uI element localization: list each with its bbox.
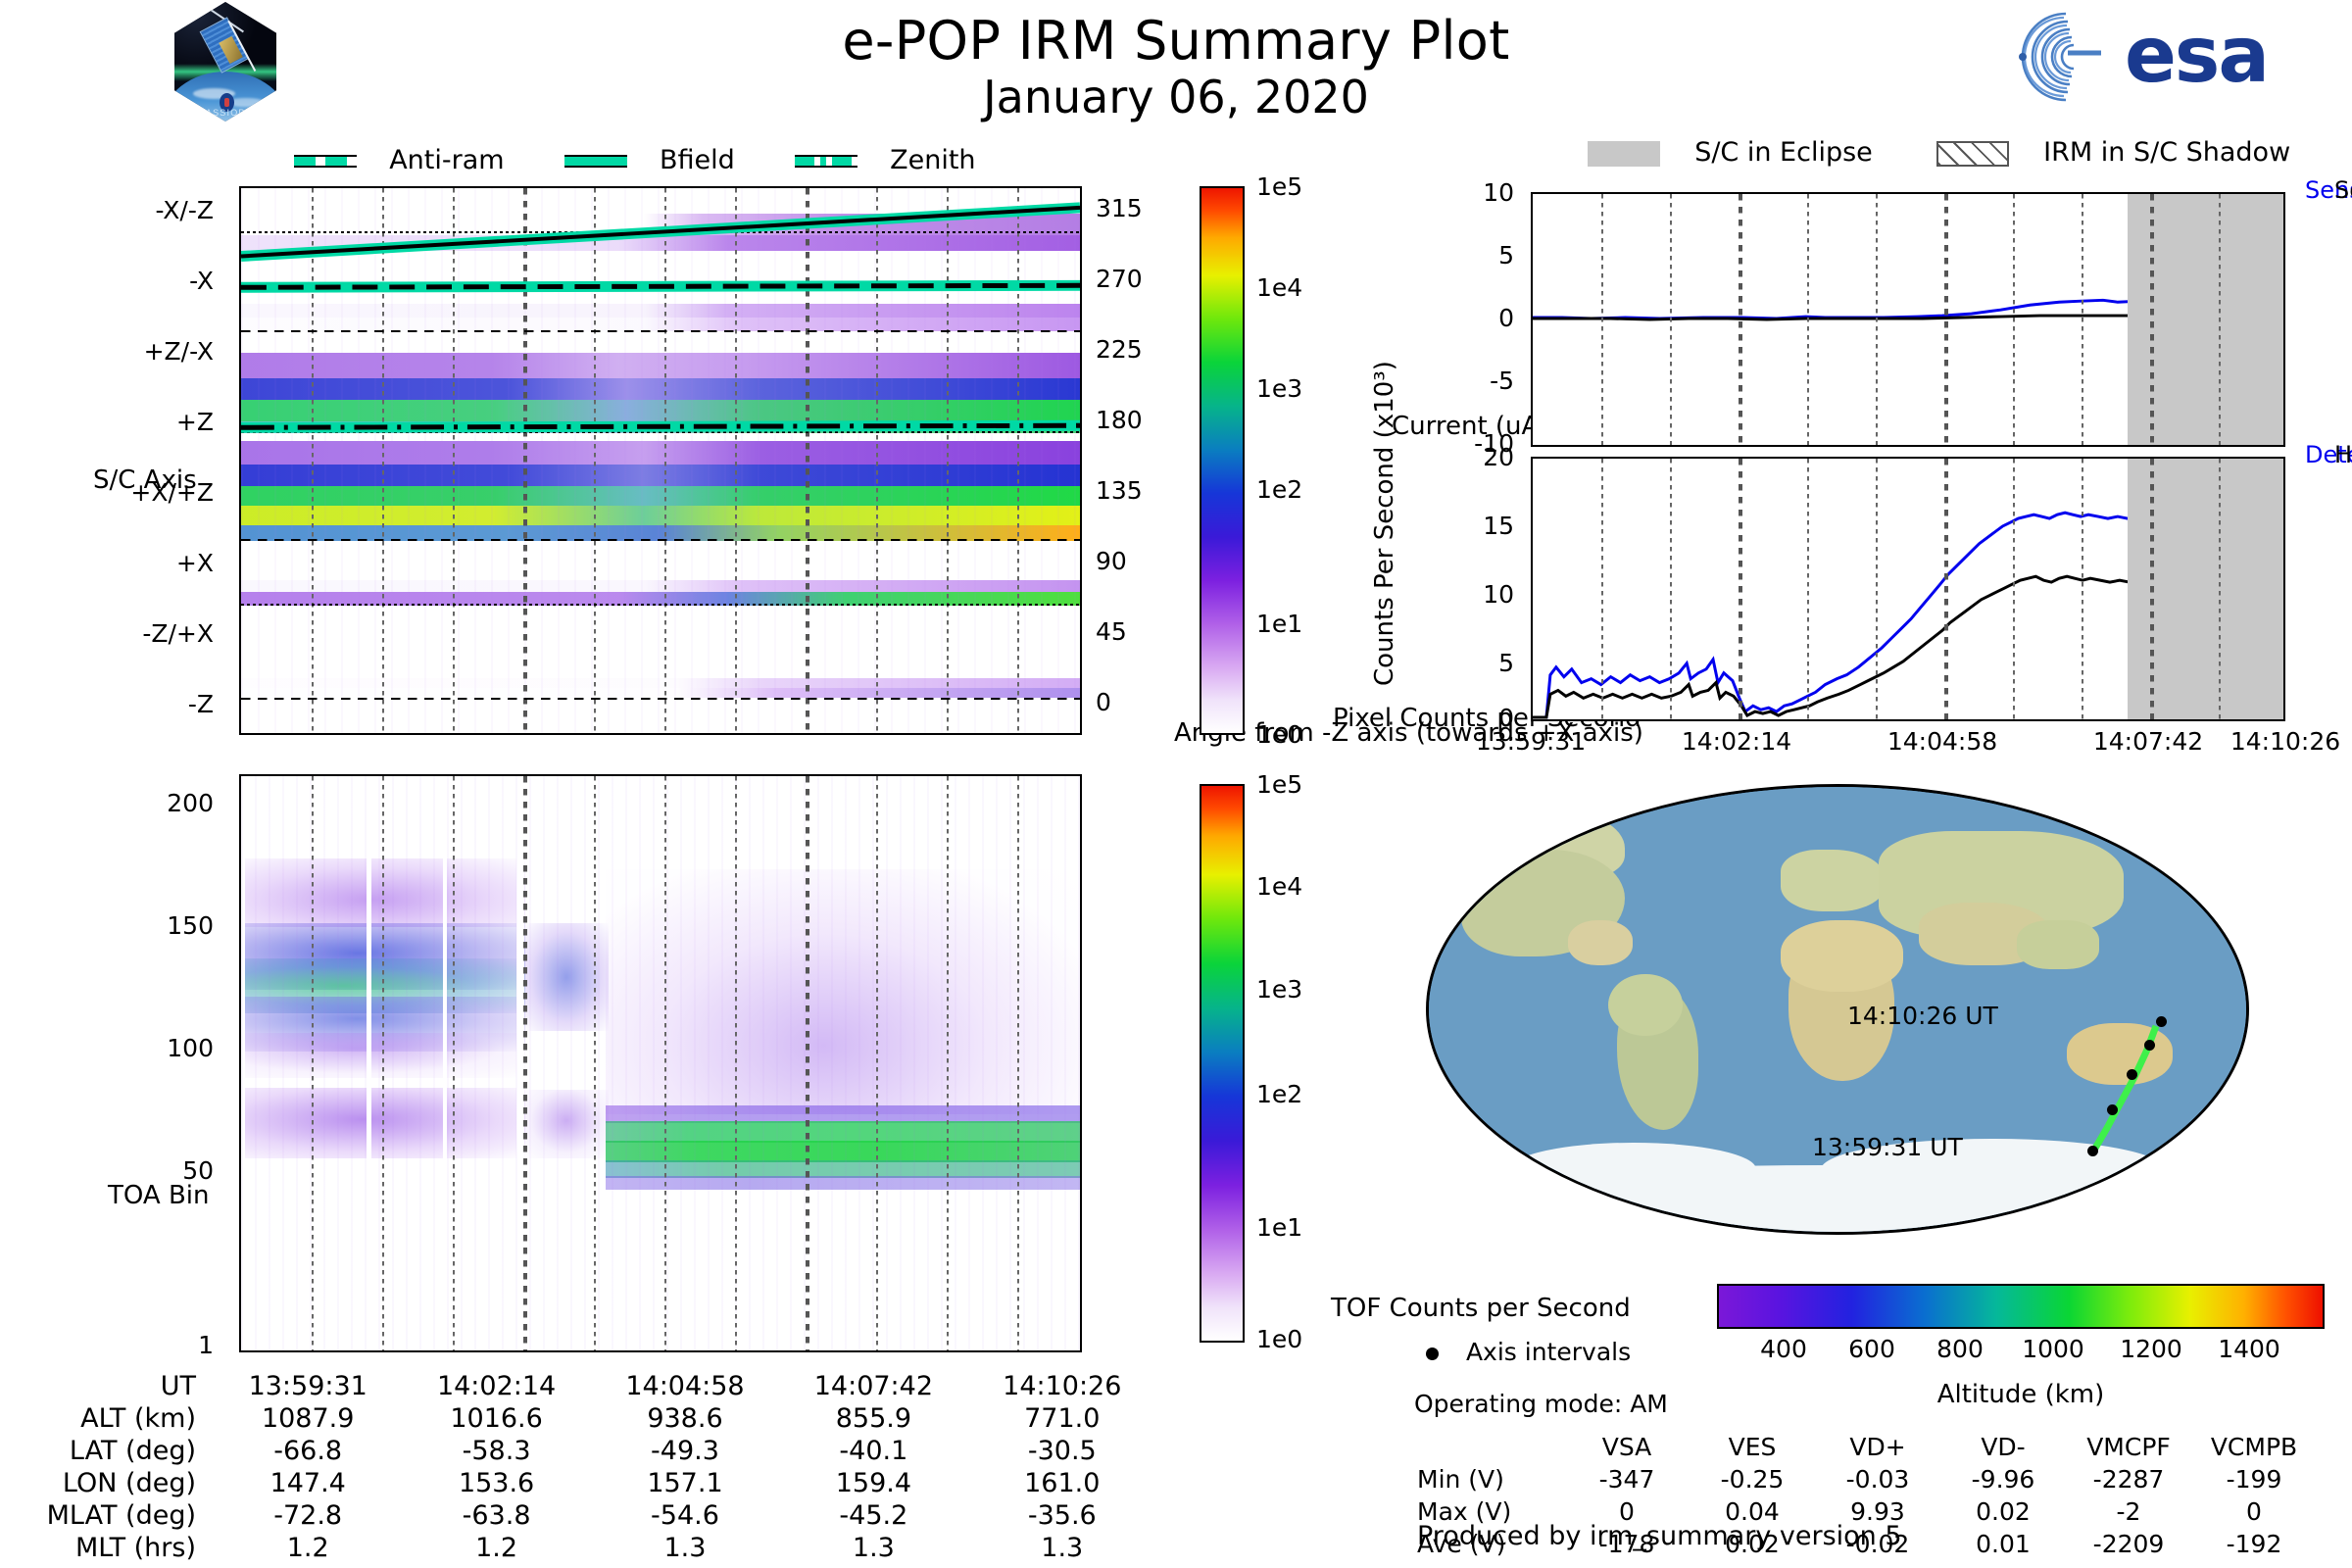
zenith-overlay-line (241, 188, 1080, 733)
table-row: LAT (deg) -66.8 -58.3 -49.3 -40.1 -30.5 (0, 1435, 1156, 1467)
eclipse-swatch (1588, 141, 1660, 167)
table-row: Min (V) -347 -0.25 -0.03 -9.96 -2287 -19… (1417, 1463, 2317, 1495)
counts-right-label-black: Hit Counter (2334, 441, 2352, 468)
cell: 147.4 (214, 1467, 402, 1499)
cell: -66.8 (214, 1435, 402, 1467)
track-point (2156, 1016, 2167, 1027)
row-label: LAT (deg) (0, 1435, 214, 1467)
cell: -347 (1564, 1463, 1690, 1495)
sc-axis-rtick-225: 225 (1096, 335, 1143, 364)
legend-label-shadow: IRM in S/C Shadow (2043, 137, 2290, 168)
track-point (2127, 1069, 2137, 1080)
col-header: VSA (1564, 1431, 1690, 1463)
cell: 1.2 (402, 1532, 590, 1564)
anti-ram-line-swatch (294, 155, 357, 168)
sc-axis-rtick-90: 90 (1096, 547, 1127, 575)
table-row: UT 13:59:31 14:02:14 14:04:58 14:07:42 1… (0, 1370, 1156, 1402)
cbar2-tick-1e5: 1e5 (1256, 770, 1302, 799)
alt-tick-400: 400 (1739, 1335, 1828, 1363)
cell: -58.3 (402, 1435, 590, 1467)
cell: 855.9 (779, 1402, 967, 1435)
orientation-legend: Anti-ram Bfield Zenith (294, 145, 976, 175)
sc-axis-ytick-5: +X (0, 549, 214, 577)
sc-axis-rtick-45: 45 (1096, 617, 1127, 646)
track-point (2144, 1040, 2155, 1051)
cell: -35.6 (968, 1499, 1156, 1532)
cell: 1.3 (968, 1532, 1156, 1564)
cassiope-mission-patch-icon: CASSIOPE (174, 2, 276, 122)
table-row: ALT (km) 1087.9 1016.6 938.6 855.9 771.0 (0, 1402, 1156, 1435)
ground-track-map: 13:59:31 UT 14:10:26 UT (1426, 784, 2249, 1235)
cell: 14:04:58 (591, 1370, 779, 1402)
counts-xtick-0: 13:59:31 (1443, 727, 1619, 756)
toa-ytick-1: 1 (0, 1331, 214, 1359)
axis-intervals-legend: Axis intervals (1426, 1338, 1631, 1366)
col-header: VES (1690, 1431, 1815, 1463)
operating-mode-label: Operating mode: AM (1414, 1390, 1668, 1418)
page-title: e-POP IRM Summary Plot (0, 10, 2352, 72)
counts-xtick-2: 14:04:58 (1854, 727, 2031, 756)
cell: 153.6 (402, 1467, 590, 1499)
sc-axis-rtick-180: 180 (1096, 406, 1143, 434)
col-header: VD+ (1815, 1431, 1940, 1463)
sc-axis-rtick-135: 135 (1096, 476, 1143, 505)
cell: 1016.6 (402, 1402, 590, 1435)
cell: 0.02 (1940, 1495, 2066, 1528)
col-header: VD- (1940, 1431, 2066, 1463)
cell: 938.6 (591, 1402, 779, 1435)
cbar2-label: TOF Counts per Second (1331, 1294, 1631, 1323)
cbar1-tick-1e0: 1e0 (1256, 720, 1302, 749)
cell: 13:59:31 (214, 1370, 402, 1402)
alt-tick-600: 600 (1828, 1335, 1916, 1363)
cbar2-tick-1e2: 1e2 (1256, 1080, 1302, 1108)
cell: 14:07:42 (779, 1370, 967, 1402)
counts-ytick-5: 5 (1431, 649, 1514, 677)
bfield-line-swatch (564, 155, 627, 168)
cell: -40.1 (779, 1435, 967, 1467)
cbar1-tick-1e5: 1e5 (1256, 172, 1302, 201)
cbar2-tick-1e3: 1e3 (1256, 975, 1302, 1004)
cell: 0 (2191, 1495, 2317, 1528)
cell: 157.1 (591, 1467, 779, 1499)
legend-label-zenith: Zenith (890, 145, 975, 175)
counts-xtick-4: 14:10:26 (2197, 727, 2352, 756)
cell: -2209 (2066, 1528, 2191, 1560)
shadow-hatch-swatch (1936, 141, 2009, 167)
zenith-line-swatch (795, 155, 857, 168)
axis-interval-dot-icon (1426, 1347, 1439, 1360)
cbar2-tick-1e1: 1e1 (1256, 1213, 1302, 1242)
cell: -0.03 (1815, 1463, 1940, 1495)
cell: 1.2 (214, 1532, 402, 1564)
track-start-label: 13:59:31 UT (1812, 1133, 1963, 1161)
toa-plot-area (239, 774, 1082, 1352)
cell: -0.25 (1690, 1463, 1815, 1495)
cell: -9.96 (1940, 1463, 2066, 1495)
row-label: MLT (hrs) (0, 1532, 214, 1564)
cell: -2 (2066, 1495, 2191, 1528)
cell: -63.8 (402, 1499, 590, 1532)
sc-axis-rtick-270: 270 (1096, 265, 1143, 293)
counts-ytick-10: 10 (1431, 580, 1514, 609)
counts-plot-area (1531, 457, 2285, 721)
legend-label-anti-ram: Anti-ram (389, 145, 504, 175)
sc-axis-ytick-4: +X/+Z (0, 478, 214, 507)
current-ytick-0: 0 (1431, 304, 1514, 332)
table-header-row: VSA VES VD+ VD- VMCPF VCMPB (1417, 1431, 2317, 1463)
sc-axis-ytick-7: -Z (0, 690, 214, 718)
counts-ytick-15: 15 (1431, 512, 1514, 540)
alt-tick-1400: 1400 (2200, 1335, 2298, 1363)
cell: 1.3 (779, 1532, 967, 1564)
cbar2-tick-1e4: 1e4 (1256, 872, 1302, 901)
col-header: VCMPB (2191, 1431, 2317, 1463)
current-ytick-m5: -5 (1431, 367, 1514, 395)
sc-axis-ytick-3: +Z (0, 408, 214, 436)
current-right-label-black: Sensor Surface Current (2334, 176, 2352, 204)
footer-produced-by: Produced by irm_summary version 5 (1417, 1521, 1902, 1551)
row-label: LON (deg) (0, 1467, 214, 1499)
table-row: MLT (hrs) 1.2 1.2 1.3 1.3 1.3 (0, 1532, 1156, 1564)
axis-intervals-label: Axis intervals (1466, 1338, 1631, 1366)
cbar1-tick-1e3: 1e3 (1256, 374, 1302, 403)
toa-ytick-100: 100 (0, 1034, 214, 1062)
toa-ytick-150: 150 (0, 911, 214, 940)
eclipse-legend: S/C in Eclipse IRM in S/C Shadow (1588, 137, 2290, 168)
row-label: UT (0, 1370, 214, 1402)
cell: -2287 (2066, 1463, 2191, 1495)
epoch-parameter-table: UT 13:59:31 14:02:14 14:04:58 14:07:42 1… (0, 1370, 1156, 1564)
row-label: ALT (km) (0, 1402, 214, 1435)
legend-label-eclipse: S/C in Eclipse (1694, 137, 1873, 168)
col-header: VMCPF (2066, 1431, 2191, 1463)
altitude-colorbar-label: Altitude (km) (1825, 1380, 2217, 1409)
cell: 1.3 (591, 1532, 779, 1564)
sc-axis-plot-area (239, 186, 1082, 735)
esa-wordmark: esa (2125, 12, 2268, 100)
row-label: Min (V) (1417, 1463, 1564, 1495)
cbar2-tick-1e0: 1e0 (1256, 1325, 1302, 1353)
cell: -199 (2191, 1463, 2317, 1495)
cbar1-tick-1e4: 1e4 (1256, 273, 1302, 302)
alt-tick-1000: 1000 (2004, 1335, 2102, 1363)
esa-logo-icon: esa (2007, 6, 2330, 108)
cell: 161.0 (968, 1467, 1156, 1499)
cell: -49.3 (591, 1435, 779, 1467)
cell: 771.0 (968, 1402, 1156, 1435)
sc-axis-ytick-0: -X/-Z (0, 196, 214, 224)
cbar1-tick-1e2: 1e2 (1256, 475, 1302, 504)
cell: 1087.9 (214, 1402, 402, 1435)
row-label: MLAT (deg) (0, 1499, 214, 1532)
cell: -45.2 (779, 1499, 967, 1532)
cell: -72.8 (214, 1499, 402, 1532)
cell: 0.01 (1940, 1528, 2066, 1560)
sc-axis-ytick-2: +Z/-X (0, 337, 214, 366)
table-row: MLAT (deg) -72.8 -63.8 -54.6 -45.2 -35.6 (0, 1499, 1156, 1532)
table-row: LON (deg) 147.4 153.6 157.1 159.4 161.0 (0, 1467, 1156, 1499)
cell: 14:02:14 (402, 1370, 590, 1402)
current-ytick-5: 5 (1431, 241, 1514, 269)
cbar1-tick-1e1: 1e1 (1256, 610, 1302, 638)
legend-label-bfield: Bfield (660, 145, 735, 175)
cell: -192 (2191, 1528, 2317, 1560)
toa-ytick-50: 50 (0, 1156, 214, 1185)
sc-axis-ytick-1: -X (0, 267, 214, 295)
cell: -30.5 (968, 1435, 1156, 1467)
alt-tick-1200: 1200 (2102, 1335, 2200, 1363)
toa-ytick-200: 200 (0, 789, 214, 817)
sc-axis-rtick-0: 0 (1096, 688, 1111, 716)
cell: 159.4 (779, 1467, 967, 1499)
sc-axis-ytick-6: -Z/+X (0, 619, 214, 648)
track-end-label: 14:10:26 UT (1847, 1002, 1998, 1030)
alt-tick-800: 800 (1916, 1335, 2004, 1363)
sc-axis-rtick-315: 315 (1096, 194, 1143, 222)
counts-xtick-1: 14:02:14 (1648, 727, 1825, 756)
cell: -54.6 (591, 1499, 779, 1532)
patch-label: CASSIOPE (174, 108, 276, 118)
cell: 14:10:26 (968, 1370, 1156, 1402)
page-date: January 06, 2020 (0, 71, 2352, 123)
counts-ytick-20: 20 (1431, 443, 1514, 471)
track-point (2087, 1146, 2098, 1156)
current-plot-area (1531, 192, 2285, 447)
toa-ylabel: TOA Bin (108, 1181, 209, 1210)
current-ytick-10: 10 (1431, 178, 1514, 207)
track-point (2107, 1104, 2118, 1115)
